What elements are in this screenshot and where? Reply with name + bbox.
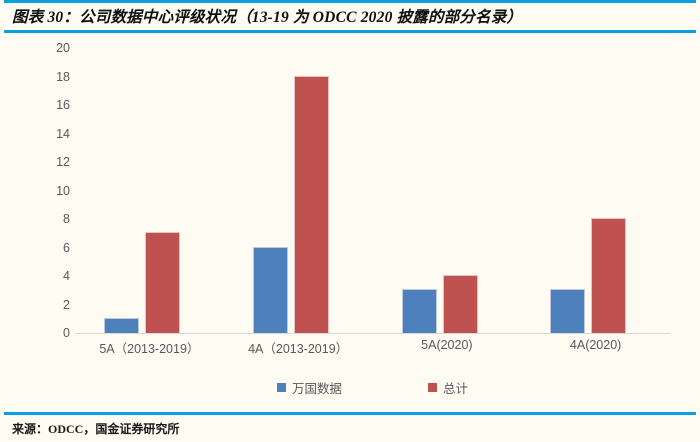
y-axis-tick-label: 0: [36, 327, 70, 340]
bar-万国数据-5A(2020)[interactable]: [402, 289, 437, 333]
legend-label: 总计: [443, 378, 468, 397]
legend-item-万国数据[interactable]: 万国数据: [277, 378, 342, 397]
bar-万国数据-4A（2013-2019）[interactable]: [253, 247, 288, 334]
plot-area: 20181614121086420 5A（2013-2019）4A（2013-2…: [0, 36, 700, 411]
x-axis-category-label: 5A（2013-2019）: [75, 338, 224, 357]
x-axis-baseline: [75, 333, 670, 334]
figure-title: 图表 30：公司数据中心评级状况（13-19 为 ODCC 2020 披露的部分…: [12, 5, 522, 27]
y-axis-tick-label: 6: [36, 241, 70, 254]
bar-group: [224, 48, 373, 333]
top-rule: [4, 0, 696, 3]
bar-总计-5A(2020)[interactable]: [443, 275, 478, 333]
y-axis-tick-label: 16: [36, 99, 70, 112]
bar-group: [75, 48, 224, 333]
title-underline-rule: [4, 30, 696, 33]
bar-groups: [75, 48, 670, 333]
x-axis-category-label: 4A（2013-2019）: [224, 338, 373, 357]
y-axis-tick-label: 10: [36, 184, 70, 197]
bar-总计-5A（2013-2019）[interactable]: [145, 232, 180, 333]
x-axis-category-label: 4A(2020): [521, 338, 670, 357]
x-axis-category-labels: 5A（2013-2019）4A（2013-2019）5A(2020)4A(202…: [75, 338, 670, 357]
bar-万国数据-5A（2013-2019）[interactable]: [104, 318, 139, 333]
legend-label: 万国数据: [292, 378, 342, 397]
legend-swatch-icon: [428, 383, 437, 392]
y-axis-tick-label: 12: [36, 156, 70, 169]
legend-item-总计[interactable]: 总计: [428, 378, 468, 397]
x-axis-category-label: 5A(2020): [373, 338, 522, 357]
y-axis-tick-label: 14: [36, 127, 70, 140]
y-axis-tick-label: 4: [36, 270, 70, 283]
source-note: 来源：ODCC，国金证券研究所: [12, 420, 179, 437]
bar-万国数据-4A(2020)[interactable]: [550, 289, 585, 333]
chart-legend: 万国数据总计: [75, 378, 670, 397]
y-axis-tick-label: 2: [36, 298, 70, 311]
bar-总计-4A(2020)[interactable]: [591, 218, 626, 333]
y-axis-tick-label: 20: [36, 42, 70, 55]
legend-swatch-icon: [277, 383, 286, 392]
source-rule: [4, 412, 696, 415]
y-axis-tick-label: 8: [36, 213, 70, 226]
bar-group: [373, 48, 522, 333]
chart-figure: 图表 30：公司数据中心评级状况（13-19 为 ODCC 2020 披露的部分…: [0, 0, 700, 442]
y-axis-tick-labels: 20181614121086420: [30, 48, 70, 333]
y-axis-tick-label: 18: [36, 70, 70, 83]
bar-总计-4A（2013-2019）[interactable]: [294, 76, 329, 334]
bar-group: [521, 48, 670, 333]
